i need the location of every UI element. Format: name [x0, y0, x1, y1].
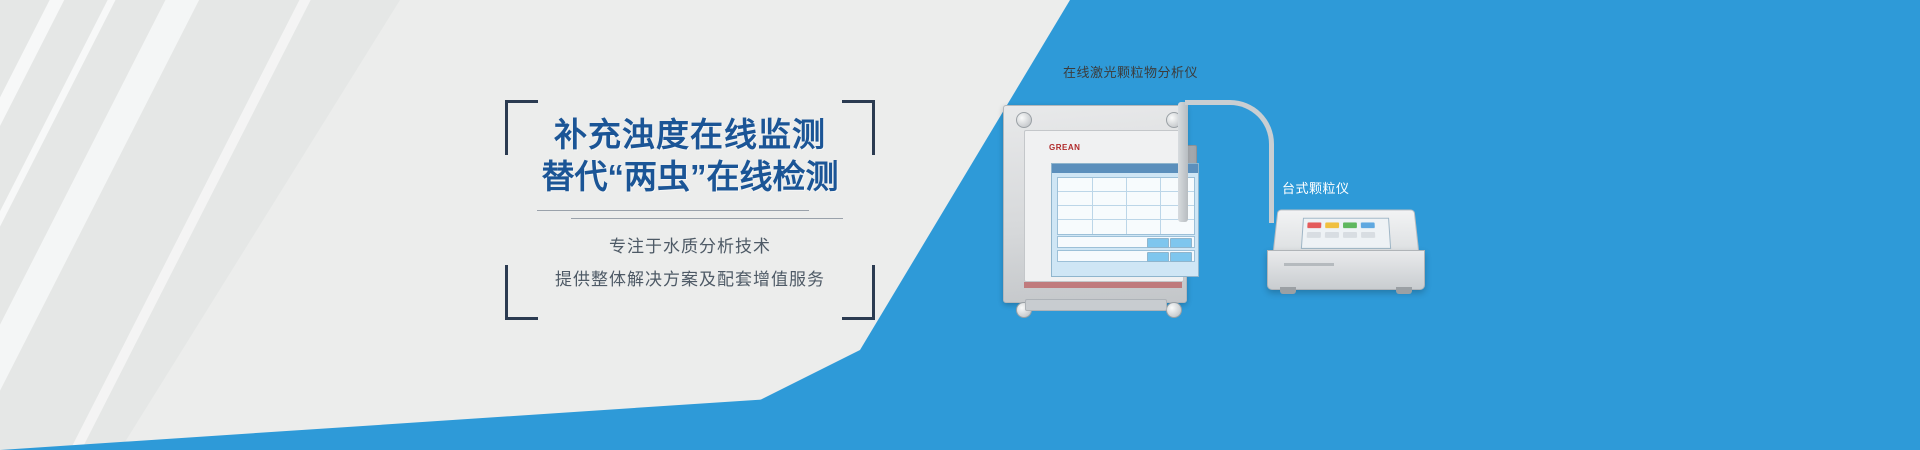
device-label-benchtop: 台式颗粒仪 — [1282, 178, 1350, 197]
benchtop-chassis — [1267, 250, 1425, 290]
benchtop-foot — [1396, 287, 1412, 294]
headline-block: 补充浊度在线监测 替代“两虫”在线检测 专注于水质分析技术 提供整体解决方案及配… — [505, 100, 875, 320]
device-label-analyzer: 在线激光颗粒物分析仪 — [1063, 62, 1198, 81]
device-image-analyzer: GREAN — [995, 95, 1195, 315]
connector-tube — [1185, 100, 1274, 223]
analyzer-screw — [1016, 112, 1032, 128]
analyzer-screw — [1166, 302, 1182, 318]
benchtop-foot — [1280, 287, 1296, 294]
analyzer-label-strip — [1024, 282, 1182, 288]
analyzer-brand-text: GREAN — [1049, 143, 1080, 152]
headline-divider — [537, 210, 843, 224]
divider-line-upper — [537, 210, 809, 211]
headline-line-2: 替代“两虫”在线检测 — [505, 156, 875, 198]
subtitle-line-2: 提供整体解决方案及配套增值服务 — [505, 265, 875, 290]
analyzer-base — [1025, 299, 1167, 311]
display-data-grid — [1057, 177, 1195, 235]
benchtop-vent — [1284, 263, 1334, 266]
headline-line-1: 补充浊度在线监测 — [554, 116, 826, 153]
analyzer-display — [1051, 163, 1199, 277]
subtitle-line-1: 专注于水质分析技术 — [505, 232, 875, 257]
device-image-benchtop — [1265, 208, 1425, 303]
benchtop-display — [1301, 218, 1391, 249]
promo-banner: 补充浊度在线监测 替代“两虫”在线检测 专注于水质分析技术 提供整体解决方案及配… — [0, 0, 1920, 450]
analyzer-cabinet: GREAN — [1003, 105, 1187, 303]
display-titlebar — [1052, 164, 1198, 173]
analyzer-bezel: GREAN — [1024, 130, 1184, 282]
headline: 补充浊度在线监测 替代“两虫”在线检测 — [505, 114, 875, 198]
divider-line-lower — [571, 218, 843, 219]
